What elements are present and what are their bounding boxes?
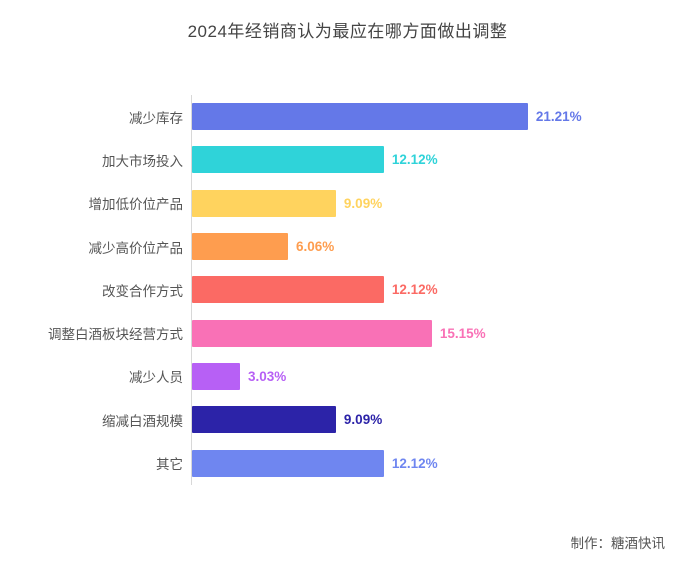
- category-label: 加大市场投入: [12, 150, 192, 170]
- bar-row: 调整白酒板块经营方式15.15%: [0, 311, 695, 354]
- chart-container: 2024年经销商认为最应在哪方面做出调整 减少库存21.21%加大市场投入12.…: [0, 0, 695, 580]
- bar-row: 改变合作方式12.12%: [0, 268, 695, 311]
- bar-row: 缩减白酒规模9.09%: [0, 398, 695, 441]
- bar-value-label: 6.06%: [296, 239, 334, 254]
- bar-row: 减少人员3.03%: [0, 355, 695, 398]
- bar-value-label: 21.21%: [536, 109, 582, 124]
- bar[interactable]: [192, 276, 384, 303]
- bar-row: 加大市场投入12.12%: [0, 138, 695, 181]
- category-label: 减少高价位产品: [12, 237, 192, 257]
- bar[interactable]: [192, 406, 336, 433]
- bar-row: 减少高价位产品6.06%: [0, 225, 695, 268]
- category-label: 改变合作方式: [12, 280, 192, 300]
- category-label: 调整白酒板块经营方式: [12, 323, 192, 343]
- bar[interactable]: [192, 450, 384, 477]
- bar-group: 6.06%: [192, 225, 334, 268]
- bar[interactable]: [192, 190, 336, 217]
- category-label: 缩减白酒规模: [12, 410, 192, 430]
- bar-value-label: 12.12%: [392, 152, 438, 167]
- bar-group: 21.21%: [192, 95, 582, 138]
- bar-value-label: 15.15%: [440, 326, 486, 341]
- bar-group: 12.12%: [192, 441, 438, 484]
- bar-group: 9.09%: [192, 182, 382, 225]
- bar-value-label: 9.09%: [344, 196, 382, 211]
- bar-group: 9.09%: [192, 398, 382, 441]
- bar[interactable]: [192, 146, 384, 173]
- bar[interactable]: [192, 363, 240, 390]
- bar-group: 15.15%: [192, 311, 486, 354]
- bar[interactable]: [192, 233, 288, 260]
- bar-group: 3.03%: [192, 355, 286, 398]
- chart-title: 2024年经销商认为最应在哪方面做出调整: [0, 17, 695, 42]
- plot-area: 减少库存21.21%加大市场投入12.12%增加低价位产品9.09%减少高价位产…: [0, 95, 695, 485]
- bar-row: 增加低价位产品9.09%: [0, 182, 695, 225]
- category-label: 减少人员: [12, 366, 192, 386]
- bar-row: 其它12.12%: [0, 441, 695, 484]
- bar-group: 12.12%: [192, 138, 438, 181]
- bar-value-label: 12.12%: [392, 456, 438, 471]
- bar-group: 12.12%: [192, 268, 438, 311]
- category-label: 其它: [12, 453, 192, 473]
- bar-row: 减少库存21.21%: [0, 95, 695, 138]
- bar-value-label: 12.12%: [392, 282, 438, 297]
- bar[interactable]: [192, 320, 432, 347]
- category-label: 增加低价位产品: [12, 193, 192, 213]
- category-label: 减少库存: [12, 107, 192, 127]
- bar-value-label: 3.03%: [248, 369, 286, 384]
- bar-value-label: 9.09%: [344, 412, 382, 427]
- credit-text: 制作：糖酒快讯: [571, 532, 666, 552]
- bar[interactable]: [192, 103, 528, 130]
